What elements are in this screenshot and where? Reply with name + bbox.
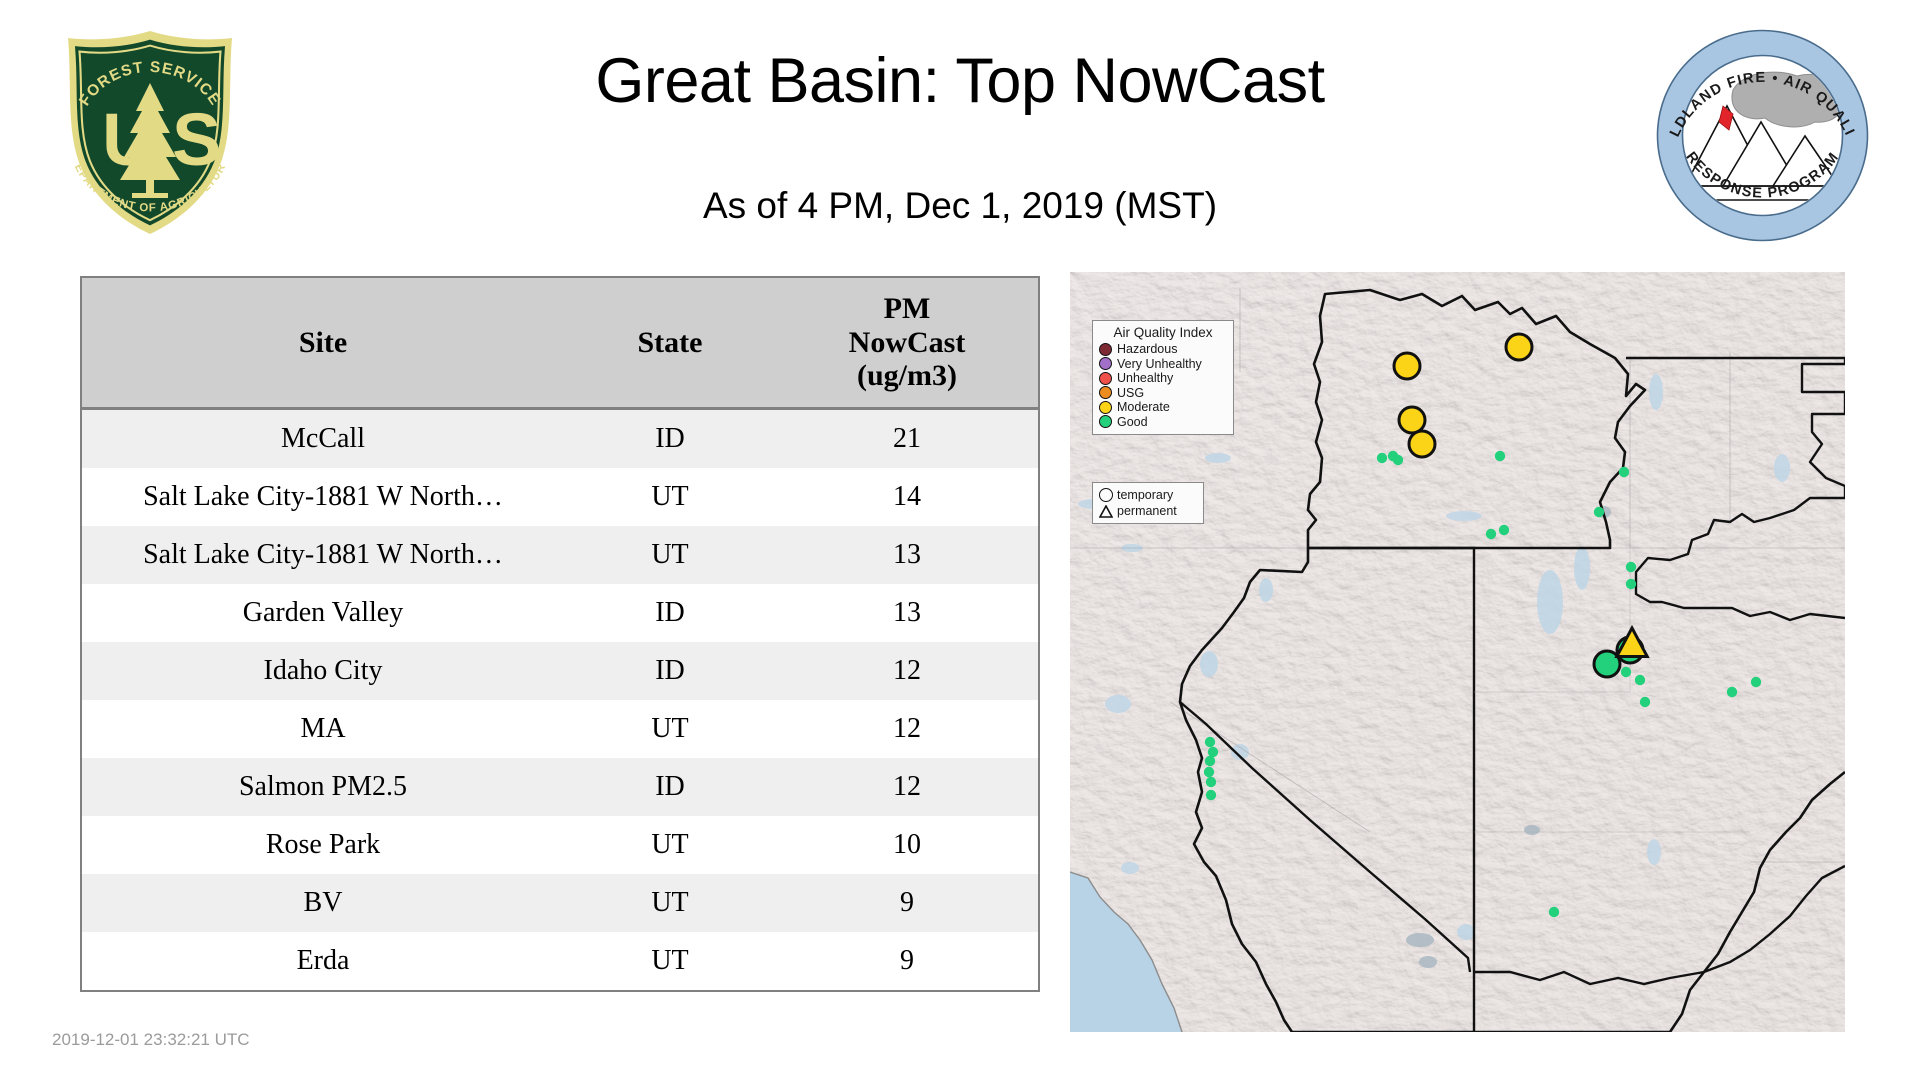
small-site-marker[interactable] xyxy=(1594,507,1604,517)
small-site-marker[interactable] xyxy=(1640,697,1650,707)
cell-state: UT xyxy=(564,526,776,584)
cell-pm: 9 xyxy=(776,932,1039,991)
triangle-icon xyxy=(1099,505,1113,518)
cell-pm: 21 xyxy=(776,408,1039,468)
aqi-legend-label: Hazardous xyxy=(1117,343,1177,356)
table-row[interactable]: Idaho CityID12 xyxy=(81,642,1039,700)
cell-site: Salt Lake City-1881 W North… xyxy=(81,526,564,584)
cell-state: ID xyxy=(564,584,776,642)
aqi-legend-title: Air Quality Index xyxy=(1099,325,1227,340)
aqi-swatch-icon xyxy=(1099,372,1112,385)
small-site-marker[interactable] xyxy=(1377,453,1387,463)
cell-pm: 14 xyxy=(776,468,1039,526)
cell-pm: 10 xyxy=(776,816,1039,874)
column-header-pm-line1: PM xyxy=(782,292,1032,326)
cell-site: MA xyxy=(81,700,564,758)
cell-pm: 12 xyxy=(776,758,1039,816)
table-row[interactable]: Garden ValleyID13 xyxy=(81,584,1039,642)
cell-pm: 12 xyxy=(776,700,1039,758)
cell-site: Erda xyxy=(81,932,564,991)
table-row[interactable]: Salt Lake City-1881 W North…UT13 xyxy=(81,526,1039,584)
small-site-marker[interactable] xyxy=(1393,455,1403,465)
monitor-marker-moderate[interactable] xyxy=(1394,353,1420,379)
page-subtitle: As of 4 PM, Dec 1, 2019 (MST) xyxy=(0,185,1920,227)
small-site-marker[interactable] xyxy=(1635,675,1645,685)
aqi-legend-item: Good xyxy=(1099,415,1227,430)
aqi-legend-item: Unhealthy xyxy=(1099,371,1227,386)
cell-state: UT xyxy=(564,468,776,526)
aqi-legend-item: Very Unhealthy xyxy=(1099,357,1227,372)
air-quality-map[interactable]: Air Quality Index HazardousVery Unhealth… xyxy=(1070,272,1845,1032)
small-site-marker[interactable] xyxy=(1751,677,1761,687)
symbol-legend-temporary: temporary xyxy=(1099,487,1197,503)
cell-state: UT xyxy=(564,932,776,991)
small-site-marker[interactable] xyxy=(1205,737,1215,747)
symbol-legend-permanent-label: permanent xyxy=(1117,504,1177,518)
aqi-legend-label: USG xyxy=(1117,387,1144,400)
cell-site: BV xyxy=(81,874,564,932)
cell-state: ID xyxy=(564,408,776,468)
aqi-legend-label: Unhealthy xyxy=(1117,372,1173,385)
small-site-marker[interactable] xyxy=(1204,767,1214,777)
cell-state: ID xyxy=(564,642,776,700)
cell-state: UT xyxy=(564,874,776,932)
small-site-marker[interactable] xyxy=(1621,667,1631,677)
aqi-legend-label: Moderate xyxy=(1117,401,1170,414)
aqi-legend-item: Moderate xyxy=(1099,400,1227,415)
cell-site: Salt Lake City-1881 W North… xyxy=(81,468,564,526)
table-row[interactable]: MAUT12 xyxy=(81,700,1039,758)
page-title: Great Basin: Top NowCast xyxy=(0,48,1920,114)
cell-site: Rose Park xyxy=(81,816,564,874)
cell-state: UT xyxy=(564,700,776,758)
column-header-site[interactable]: Site xyxy=(81,277,564,408)
table-row[interactable]: ErdaUT9 xyxy=(81,932,1039,991)
aqi-legend-label: Good xyxy=(1117,416,1148,429)
column-header-pm-nowcast[interactable]: PM NowCast (ug/m3) xyxy=(776,277,1039,408)
column-header-pm-line3: (ug/m3) xyxy=(782,359,1032,393)
monitor-marker-moderate[interactable] xyxy=(1409,431,1435,457)
aqi-legend-item: USG xyxy=(1099,386,1227,401)
aqi-swatch-icon xyxy=(1099,401,1112,414)
small-site-marker[interactable] xyxy=(1205,756,1215,766)
small-site-marker[interactable] xyxy=(1486,529,1496,539)
cell-site: Salmon PM2.5 xyxy=(81,758,564,816)
cell-pm: 9 xyxy=(776,874,1039,932)
small-site-marker[interactable] xyxy=(1626,562,1636,572)
generated-timestamp: 2019-12-01 23:32:21 UTC xyxy=(52,1030,250,1050)
column-header-state-label: State xyxy=(638,326,703,359)
cell-state: ID xyxy=(564,758,776,816)
monitor-marker-moderate[interactable] xyxy=(1506,334,1532,360)
cell-site: McCall xyxy=(81,408,564,468)
small-site-marker[interactable] xyxy=(1208,747,1218,757)
table-row[interactable]: McCallID21 xyxy=(81,408,1039,468)
table-row[interactable]: Rose ParkUT10 xyxy=(81,816,1039,874)
column-header-pm-line2: NowCast xyxy=(782,326,1032,360)
aqi-legend: Air Quality Index HazardousVery Unhealth… xyxy=(1092,320,1234,435)
table-header-row: Site State PM NowCast (ug/m3) xyxy=(81,277,1039,408)
cell-site: Idaho City xyxy=(81,642,564,700)
small-site-marker[interactable] xyxy=(1727,687,1737,697)
small-site-marker[interactable] xyxy=(1495,451,1505,461)
aqi-swatch-icon xyxy=(1099,415,1112,428)
monitor-marker-moderate[interactable] xyxy=(1399,407,1425,433)
symbol-legend-temporary-label: temporary xyxy=(1117,488,1173,502)
aqi-swatch-icon xyxy=(1099,386,1112,399)
small-site-marker[interactable] xyxy=(1206,790,1216,800)
circle-icon xyxy=(1099,488,1113,502)
small-site-marker[interactable] xyxy=(1626,579,1636,589)
small-site-marker[interactable] xyxy=(1499,525,1509,535)
aqi-swatch-icon xyxy=(1099,343,1112,356)
aqi-legend-item: Hazardous xyxy=(1099,342,1227,357)
small-site-marker[interactable] xyxy=(1549,907,1559,917)
small-site-marker[interactable] xyxy=(1206,777,1216,787)
cell-pm: 12 xyxy=(776,642,1039,700)
cell-pm: 13 xyxy=(776,526,1039,584)
column-header-site-label: Site xyxy=(299,326,347,359)
aqi-legend-label: Very Unhealthy xyxy=(1117,358,1202,371)
table-row[interactable]: Salt Lake City-1881 W North…UT14 xyxy=(81,468,1039,526)
symbol-legend-permanent: permanent xyxy=(1099,503,1197,519)
table-row[interactable]: BVUT9 xyxy=(81,874,1039,932)
small-site-marker[interactable] xyxy=(1619,467,1629,477)
cell-pm: 13 xyxy=(776,584,1039,642)
top-nowcast-table: Site State PM NowCast (ug/m3) McCallID21… xyxy=(80,276,1040,992)
aqi-swatch-icon xyxy=(1099,357,1112,370)
cell-state: UT xyxy=(564,816,776,874)
cell-site: Garden Valley xyxy=(81,584,564,642)
column-header-state[interactable]: State xyxy=(564,277,776,408)
table-row[interactable]: Salmon PM2.5ID12 xyxy=(81,758,1039,816)
symbol-legend: temporary permanent xyxy=(1092,482,1204,524)
